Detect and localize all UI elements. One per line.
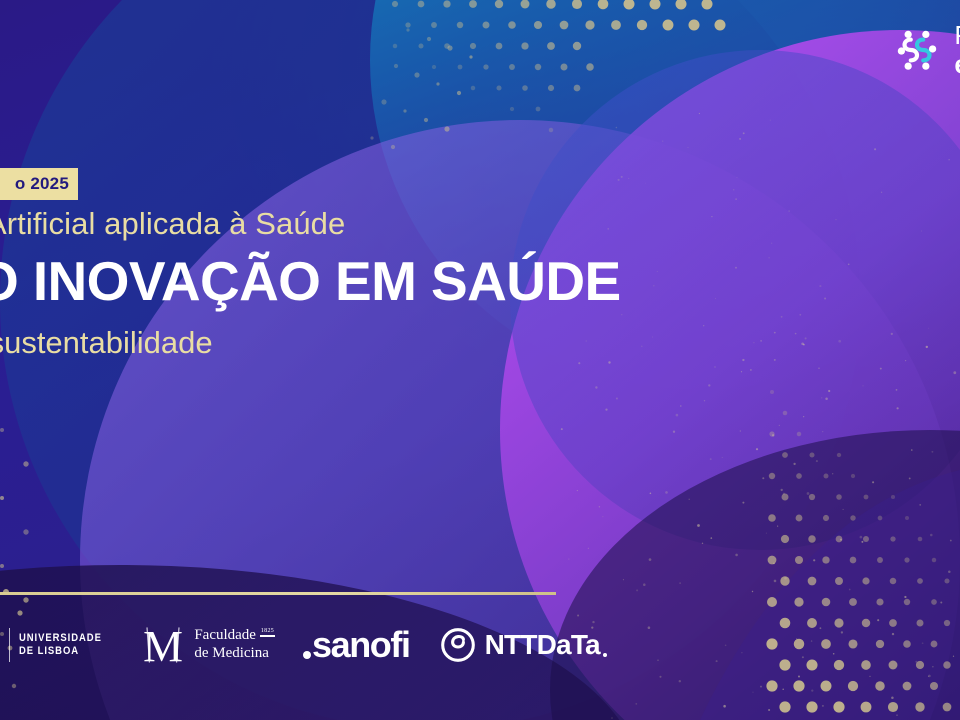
sponsor-universidade-de-lisboa: UNIVERSIDADE DE LISBOA [0,614,115,676]
kicker-text: igência Artificial aplicada à Saúde [0,205,900,244]
premio-inovacao-knot-logo-icon [891,24,943,76]
brand-line-2: em Sa [954,51,960,77]
lisboa-divider [9,628,10,662]
premio-brand-logo: Prémi em Sa [891,22,960,77]
ntt-data-wordmark: NTTDaTa [485,631,607,659]
medicina-line-2: de Medicina [194,645,275,663]
promo-banner: o 2025 igência Artificial aplicada à Saú… [0,0,960,720]
year-badge: o 2025 [0,168,78,200]
ntt-data-swirl-icon [440,627,476,663]
sponsor-faculdade-de-medicina: M Faculdade 1825 de Medicina [139,614,275,676]
medicina-year-value: 1825 [261,628,274,634]
brand-line-1: Prémi [954,22,960,48]
year-badge-label: o 2025 [15,174,69,194]
lisboa-line-1: UNIVERSIDADE [19,632,102,645]
sanofi-wordmark: sanofi [303,627,410,663]
sponsor-ntt-data: NTTDaTa [440,614,607,676]
sponsor-sanofi: sanofi [303,614,410,676]
lisboa-line-2: DE LISBOA [19,645,102,658]
medicina-line-1: Faculdade [194,627,256,645]
headline-block: igência Artificial aplicada à Saúde ÉMIO… [0,205,900,362]
sponsor-logo-row: UNIVERSIDADE DE LISBOA M Faculdade 1825 [0,614,607,676]
footer-divider [0,592,556,595]
medicina-m-monogram-icon: M [139,621,187,669]
tagline-text: os pela sustentabilidade [0,324,900,363]
medicina-year: 1825 [260,628,275,637]
main-headline: ÉMIO INOVAÇÃO EM SAÚDE [0,253,900,311]
